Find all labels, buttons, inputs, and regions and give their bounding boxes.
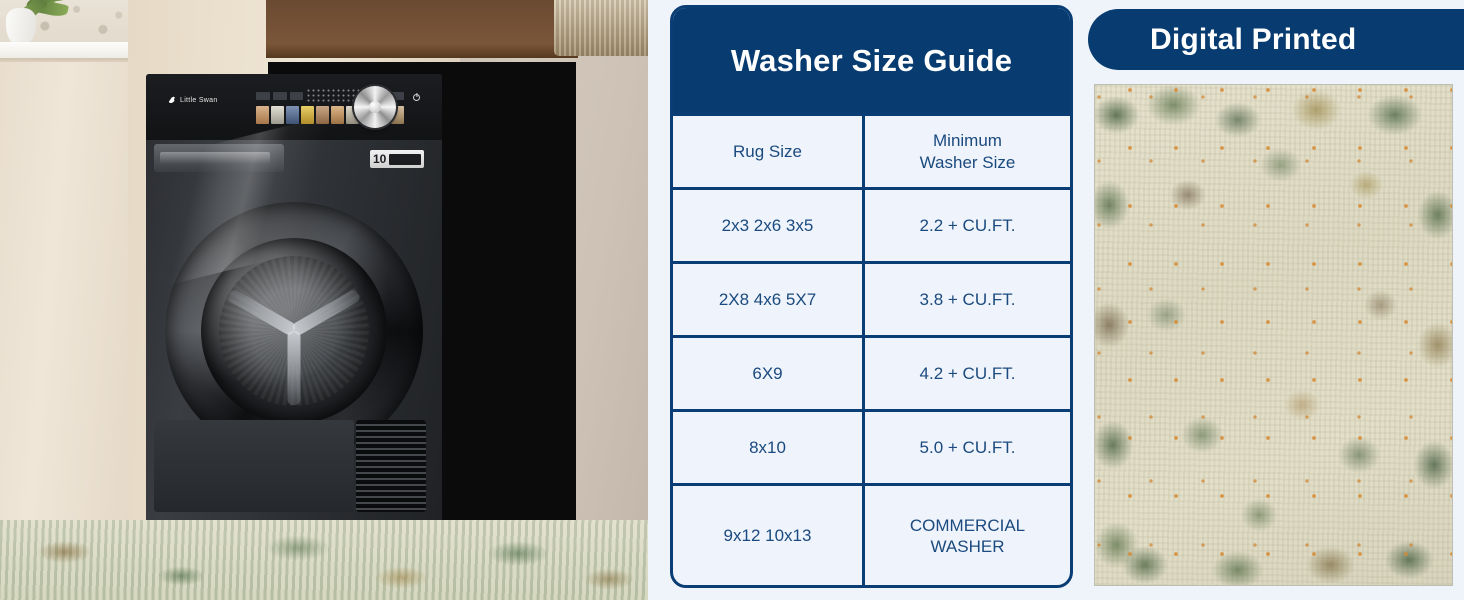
cell-washer-size-line1: COMMERCIAL xyxy=(910,516,1025,535)
capacity-value: 10 xyxy=(373,153,386,165)
table-header-row: Rug Size Minimum Washer Size xyxy=(673,113,1070,187)
capacity-unit xyxy=(389,154,421,165)
vent-grille xyxy=(356,420,426,512)
program-icon xyxy=(301,106,314,124)
control-panel: Little Swan xyxy=(146,74,442,140)
screenshot-root: Little Swan xyxy=(0,0,1464,600)
cell-rug-size: 8x10 xyxy=(673,412,865,483)
door-glass xyxy=(201,238,387,424)
program-dial[interactable] xyxy=(354,86,396,128)
cabinet-seam xyxy=(0,58,132,62)
cell-rug-size: 2x3 2x6 3x5 xyxy=(673,190,865,261)
cell-washer-size: 4.2 + CU.FT. xyxy=(865,338,1070,409)
cell-rug-size: 9x12 10x13 xyxy=(673,486,865,586)
table-row: 6X9 4.2 + CU.FT. xyxy=(673,335,1070,409)
column-header-washer-size-line1: Minimum xyxy=(933,131,1002,150)
washer-dryer-appliance: Little Swan xyxy=(146,74,442,524)
cell-rug-size: 2X8 4x6 5X7 xyxy=(673,264,865,335)
digital-printed-badge: Digital Printed xyxy=(1088,9,1464,70)
program-button xyxy=(273,92,287,100)
cell-washer-size: 3.8 + CU.FT. xyxy=(865,264,1070,335)
brand-label: Little Swan xyxy=(168,96,218,104)
column-header-rug-size: Rug Size xyxy=(673,116,865,187)
program-icon xyxy=(286,106,299,124)
program-icon xyxy=(271,106,284,124)
cell-washer-size: 2.2 + CU.FT. xyxy=(865,190,1070,261)
drum-vane xyxy=(288,331,301,405)
detergent-drawer xyxy=(154,144,284,172)
panel-microtext xyxy=(425,79,426,84)
brand-name: Little Swan xyxy=(180,97,218,104)
upper-shelf xyxy=(266,0,578,58)
column-header-washer-size-line2: Washer Size xyxy=(920,153,1016,172)
size-guide-table: Rug Size Minimum Washer Size 2x3 2x6 3x5… xyxy=(673,113,1070,586)
page-title: Washer Size Guide xyxy=(731,43,1012,79)
storage-basket xyxy=(554,0,648,56)
cell-rug-size: 6X9 xyxy=(673,338,865,409)
program-button xyxy=(256,92,270,100)
countertop xyxy=(0,42,132,58)
program-icon xyxy=(331,106,344,124)
drum xyxy=(219,256,369,406)
table-row: 2x3 2x6 3x5 2.2 + CU.FT. xyxy=(673,187,1070,261)
program-icon xyxy=(316,106,329,124)
product-panel: Digital Printed xyxy=(1080,0,1464,600)
table-row: 9x12 10x13 COMMERCIAL WASHER xyxy=(673,483,1070,586)
swan-logo-icon xyxy=(168,96,177,104)
guide-header: Washer Size Guide xyxy=(673,8,1070,113)
column-header-washer-size: Minimum Washer Size xyxy=(865,116,1070,187)
drum-vane xyxy=(227,288,298,336)
table-row: 8x10 5.0 + CU.FT. xyxy=(673,409,1070,483)
table-row: 2X8 4x6 5X7 3.8 + CU.FT. xyxy=(673,261,1070,335)
washer-size-guide: Washer Size Guide Rug Size Minimum Washe… xyxy=(670,5,1073,588)
cell-washer-size: COMMERCIAL WASHER xyxy=(865,486,1070,586)
left-cabinet xyxy=(0,0,132,600)
laundry-room-photo: Little Swan xyxy=(0,0,648,600)
cell-washer-size-line2: WASHER xyxy=(930,537,1004,556)
rug-accent-dots xyxy=(1095,85,1452,585)
jungle-botanical-rug xyxy=(1095,85,1452,585)
floor-rug xyxy=(0,520,648,600)
lower-access-panel xyxy=(154,420,354,512)
power-icon[interactable] xyxy=(413,94,420,101)
program-button xyxy=(290,92,304,100)
capacity-badge: 10 xyxy=(370,150,424,168)
drum-vane xyxy=(291,288,362,336)
digital-printed-label: Digital Printed xyxy=(1150,23,1356,57)
program-icon xyxy=(256,106,269,124)
vase xyxy=(6,8,36,46)
cell-washer-size: 5.0 + CU.FT. xyxy=(865,412,1070,483)
